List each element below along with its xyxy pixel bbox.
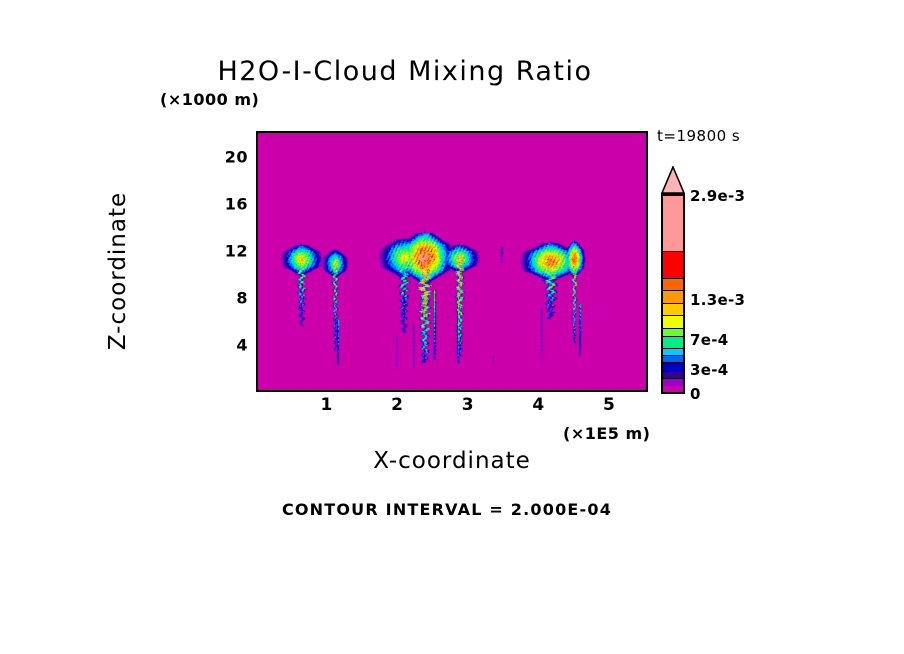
colorbar-band — [663, 362, 683, 370]
y-tick-label: 8 — [236, 288, 248, 307]
colorbar-labels: 2.9e-31.3e-37e-43e-40 — [690, 166, 790, 396]
colorbar-bands — [661, 193, 685, 394]
colorbar-band — [663, 195, 683, 251]
x-tick-label: 3 — [462, 395, 474, 415]
colorbar-band — [663, 303, 683, 315]
colorbar-tick-label: 0 — [690, 385, 701, 403]
colorbar-band — [663, 336, 683, 348]
x-axis-units: (×1E5 m) — [563, 424, 650, 443]
x-tick-label: 5 — [603, 395, 615, 415]
colorbar-band — [663, 355, 683, 362]
colorbar-tick-label: 1.3e-3 — [690, 291, 745, 309]
colorbar-band — [663, 386, 683, 392]
colorbar-tick-label: 2.9e-3 — [690, 187, 745, 205]
contour-interval-text: CONTOUR INTERVAL = 2.000E-04 — [282, 500, 612, 519]
colorbar-band — [663, 328, 683, 336]
colorbar-tick-label: 7e-4 — [690, 331, 728, 349]
time-label: t=19800 s — [657, 127, 740, 145]
colorbar — [658, 166, 688, 394]
y-axis-units: (×1000 m) — [160, 90, 259, 109]
y-tick-label: 20 — [225, 147, 248, 166]
contour-field-canvas — [258, 133, 646, 390]
y-axis-ticks: 20161284 — [196, 131, 248, 392]
contour-interval-caption: CONTOUR INTERVAL = 2.000E-04 — [0, 500, 904, 519]
x-tick-label: 2 — [391, 395, 403, 415]
page-title: H2O-I-Cloud Mixing Ratio — [0, 56, 904, 87]
colorbar-tick-label: 3e-4 — [690, 361, 728, 379]
y-axis-label: Z-coordinate — [105, 141, 131, 401]
y-tick-label: 4 — [236, 335, 248, 354]
x-axis-label: X-coordinate — [256, 448, 648, 474]
colorbar-band — [663, 290, 683, 302]
colorbar-band — [663, 378, 683, 385]
contour-plot-area — [256, 131, 648, 392]
colorbar-band — [663, 371, 683, 378]
colorbar-band — [663, 278, 683, 290]
x-axis-ticks: 12345 — [256, 395, 648, 421]
colorbar-band — [663, 251, 683, 278]
x-tick-label: 1 — [320, 395, 332, 415]
page-title-text: H2O-I-Cloud Mixing Ratio — [217, 56, 592, 87]
colorbar-arrow-icon — [658, 166, 688, 194]
x-tick-label: 4 — [532, 395, 544, 415]
y-tick-label: 12 — [225, 241, 248, 260]
y-tick-label: 16 — [225, 194, 248, 213]
colorbar-band — [663, 315, 683, 327]
